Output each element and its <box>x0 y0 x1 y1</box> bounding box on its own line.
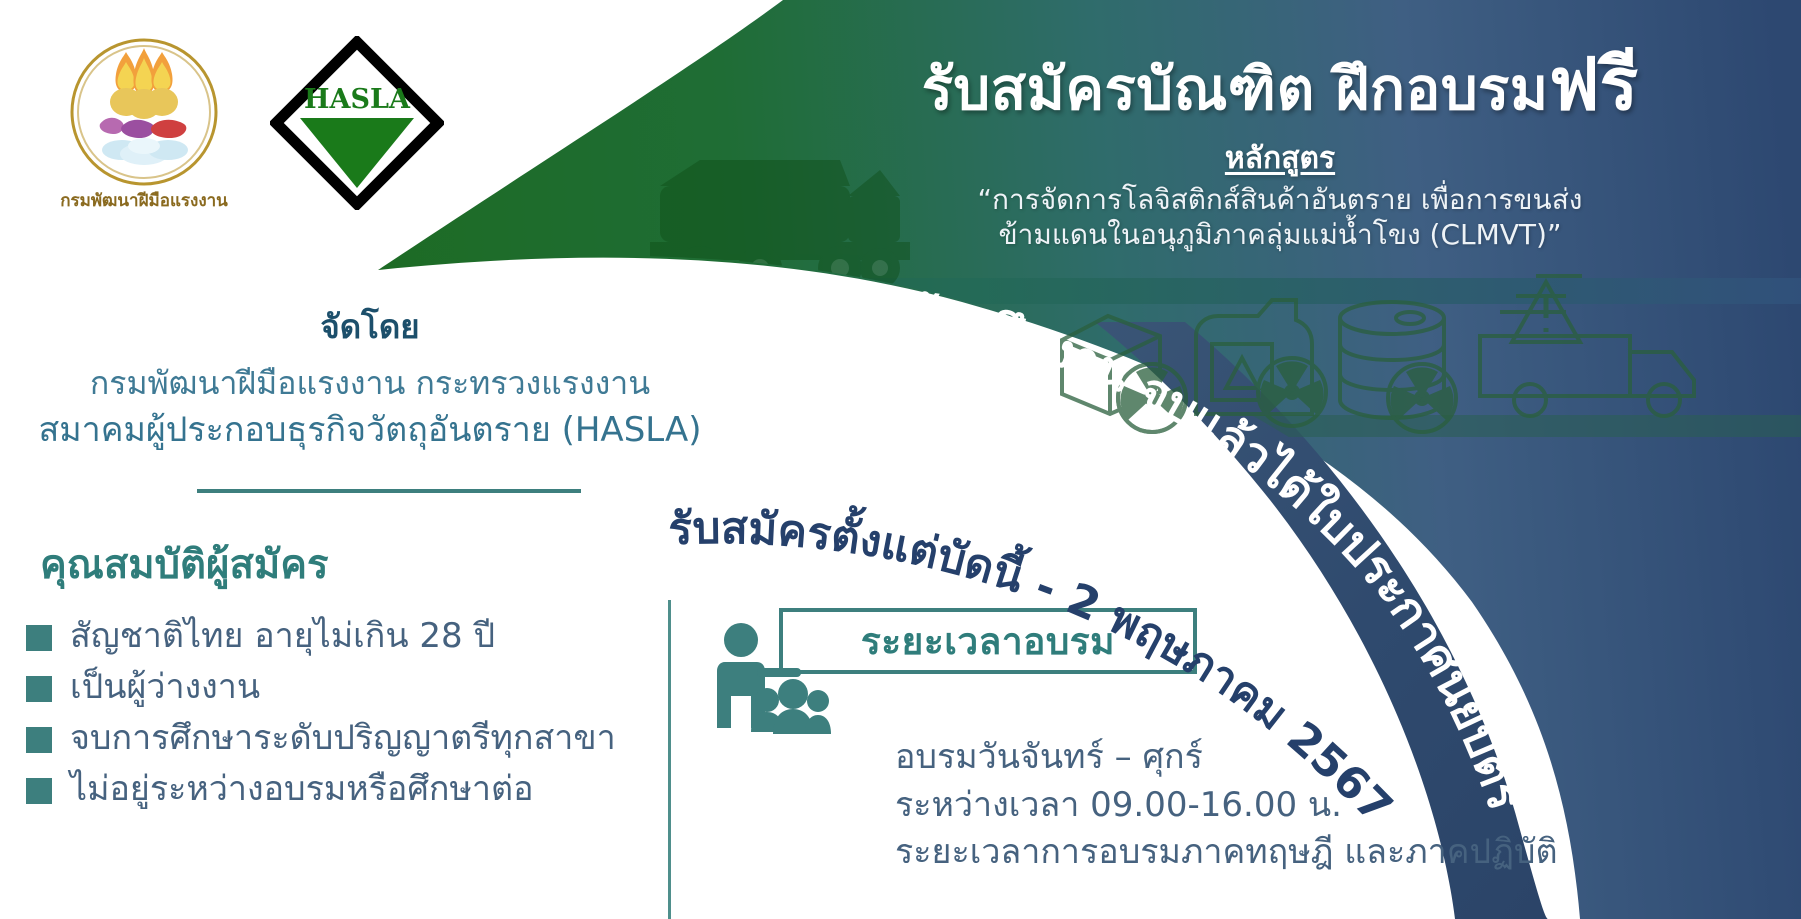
curved-dark-headline: รับสมัครตั้งแต่บัดนี้ - 2 พฤษภาคม 2567 <box>667 502 1402 833</box>
curved-dark-headline-text: รับสมัครตั้งแต่บัดนี้ - 2 พฤษภาคม 2567 <box>667 502 1402 833</box>
poster-canvas: กรมพัฒนาฝีมือแรงงาน HASLA รับสมัครบัณฑิต… <box>0 0 1801 919</box>
curved-text-layer: อบรมพร้อมฝึกงาน จบแล้วได้ใบประกาศนียบัตร… <box>0 0 1801 919</box>
